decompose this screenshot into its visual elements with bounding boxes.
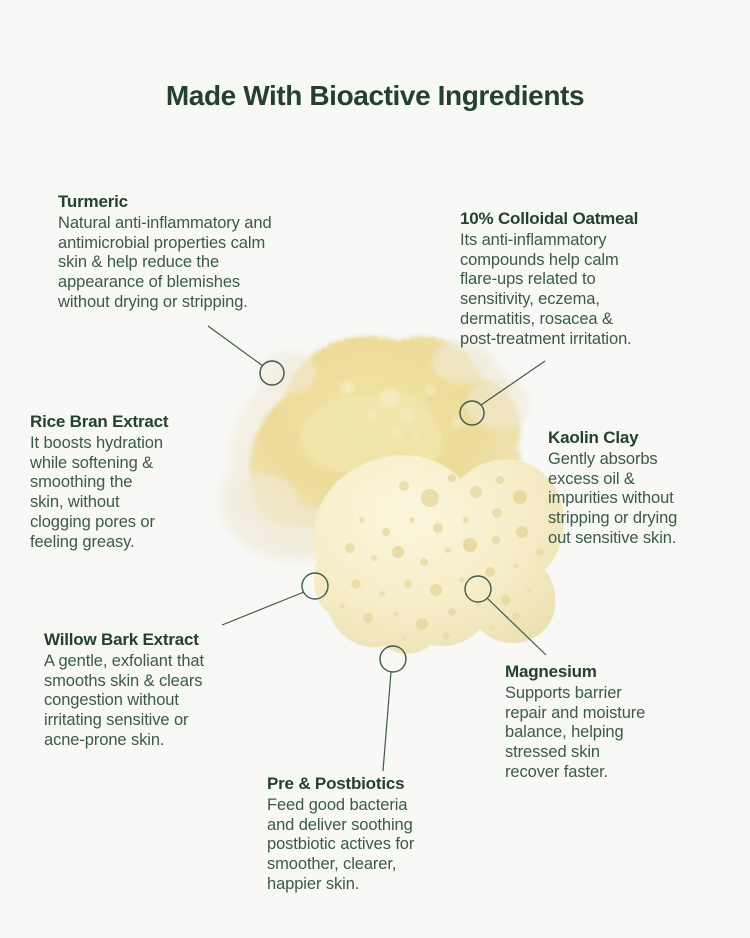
powder-dust: [230, 340, 530, 550]
callout-rice-bran-extract: Rice Bran Extract It boosts hydration wh…: [30, 412, 245, 553]
infographic-root: Made With Bioactive Ingredients Turmeric…: [0, 0, 750, 938]
callout-pre-postbiotics: Pre & Postbiotics Feed good bacteria and…: [267, 774, 497, 895]
callout-body: Natural anti-inflammatory and antimicrob…: [58, 214, 388, 313]
gel-blob: [314, 455, 565, 654]
callout-colloidal-oatmeal: 10% Colloidal Oatmeal Its anti-inflammat…: [460, 209, 730, 350]
marker-pre-postbiotics: [380, 646, 406, 771]
callout-title: 10% Colloidal Oatmeal: [460, 209, 730, 230]
callout-body: A gentle, exfoliant that smooths skin & …: [44, 652, 289, 751]
callout-title: Kaolin Clay: [548, 428, 748, 449]
callout-kaolin-clay: Kaolin Clay Gently absorbs excess oil & …: [548, 428, 748, 549]
callout-body: Gently absorbs excess oil & impurities w…: [548, 450, 748, 549]
callout-title: Turmeric: [58, 192, 388, 213]
callout-willow-bark-extract: Willow Bark Extract A gentle, exfoliant …: [44, 630, 289, 751]
callout-body: It boosts hydration while softening & sm…: [30, 434, 245, 553]
callout-title: Magnesium: [505, 662, 720, 683]
powder-mound: [250, 336, 522, 536]
powder-clumps: [325, 382, 463, 453]
blob-bubbles: [339, 474, 544, 641]
callout-title: Willow Bark Extract: [44, 630, 289, 651]
callout-title: Pre & Postbiotics: [267, 774, 497, 795]
marker-turmeric: [208, 326, 284, 385]
callout-title: Rice Bran Extract: [30, 412, 245, 433]
callout-body: Supports barrier repair and moisture bal…: [505, 684, 720, 783]
marker-willow-bark: [222, 573, 328, 625]
page-title: Made With Bioactive Ingredients: [0, 80, 750, 112]
powder-halo: [220, 340, 515, 565]
callout-turmeric: Turmeric Natural anti-inflammatory and a…: [58, 192, 388, 313]
callout-body: Its anti-inflammatory compounds help cal…: [460, 231, 730, 350]
marker-magnesium: [465, 576, 546, 655]
marker-colloidal-oatmeal: [460, 361, 545, 425]
callout-body: Feed good bacteria and deliver soothing …: [267, 796, 497, 895]
callout-magnesium: Magnesium Supports barrier repair and mo…: [505, 662, 720, 783]
